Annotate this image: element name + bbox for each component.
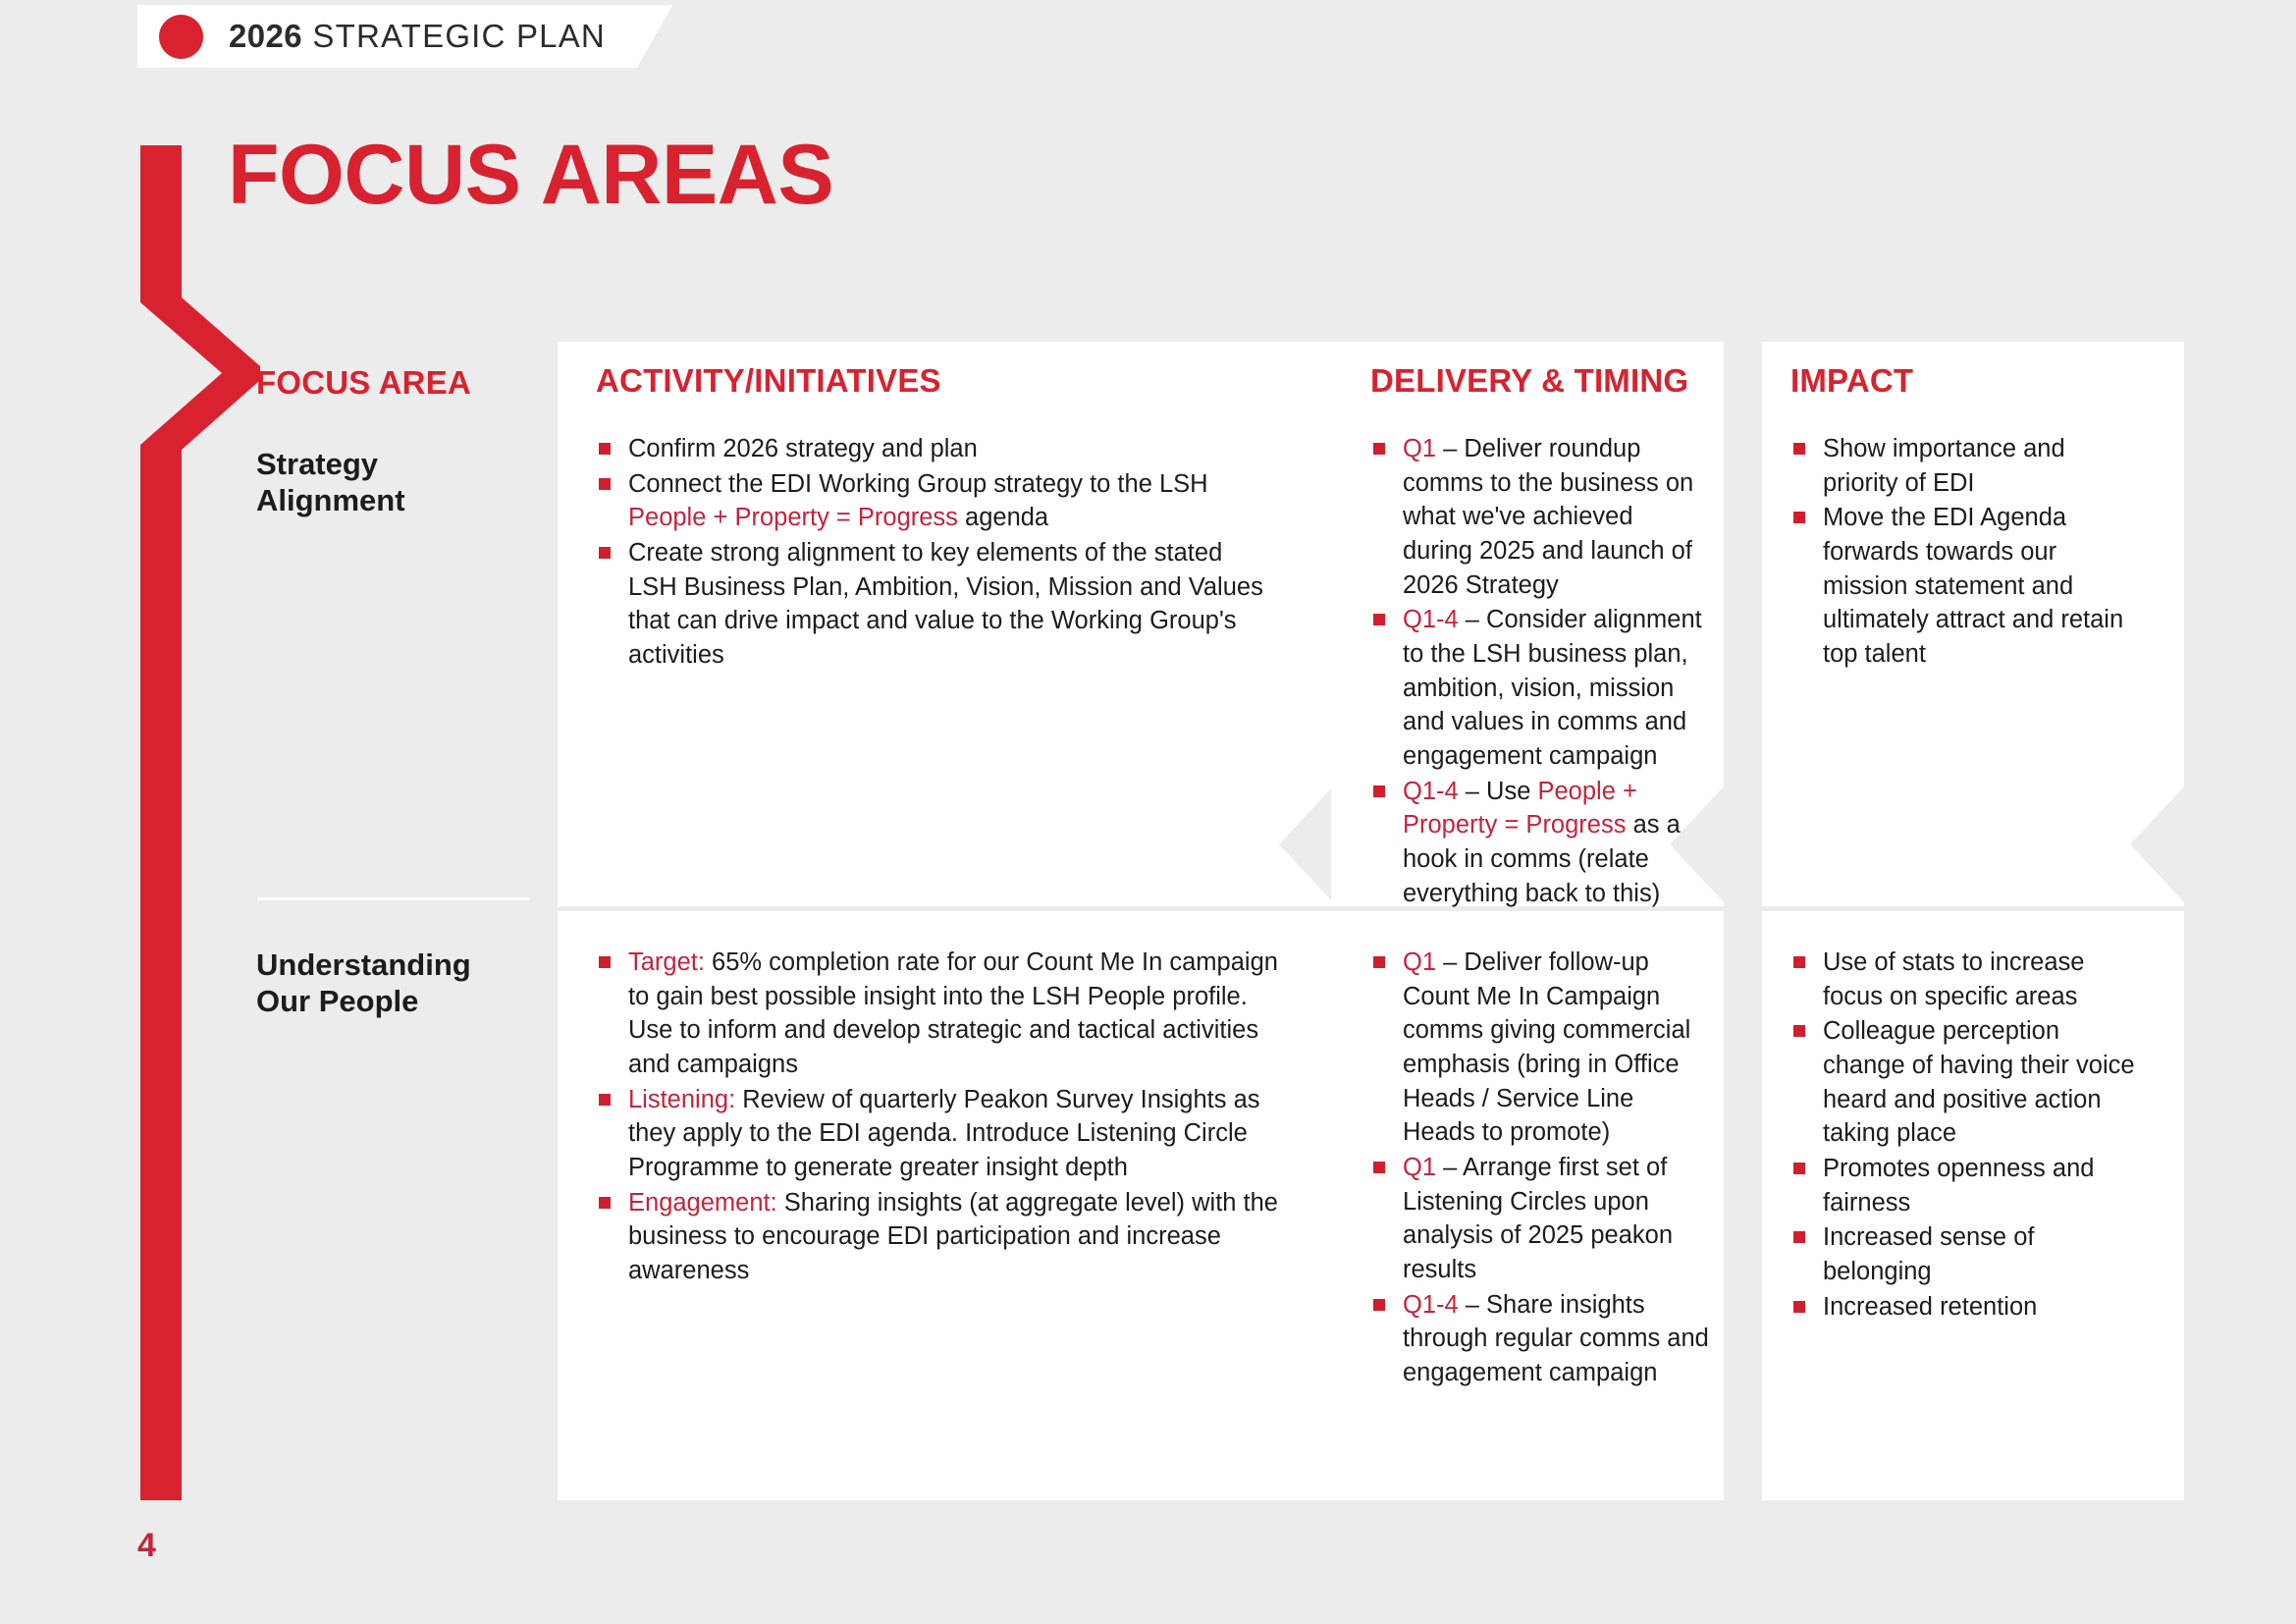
bullet-item: Move the EDI Agenda forwards towards our… (1790, 501, 2144, 671)
bullet-text: Show importance and priority of EDI (1823, 435, 2065, 497)
bullet-list: Q1 – Deliver roundup comms to the busine… (1370, 432, 1709, 910)
bullet-item: Show importance and priority of EDI (1790, 432, 2144, 500)
bullet-text: – Use (1466, 778, 1538, 805)
cell-activity-row1: Confirm 2026 strategy and planConnect th… (596, 432, 1273, 674)
bullet-item: Engagement: Sharing insights (at aggrega… (596, 1186, 1283, 1288)
bullet-text: Confirm 2026 strategy and plan (628, 435, 978, 462)
bullet-text: Use of stats to increase focus on specif… (1823, 948, 2084, 1010)
bullet-item: Use of stats to increase focus on specif… (1790, 946, 2144, 1013)
bullet-text: Increased sense of belonging (1823, 1223, 2034, 1285)
bullet-item: Connect the EDI Working Group strategy t… (596, 467, 1273, 535)
bullet-item: Colleague perception change of having th… (1790, 1014, 2144, 1151)
bullet-text: People + Property = Progress (628, 504, 958, 531)
bullet-item: Q1-4 – Consider alignment to the LSH bus… (1370, 603, 1709, 773)
cell-delivery-row2: Q1 – Deliver follow-up Count Me In Campa… (1370, 946, 1709, 1391)
bullet-list: Target: 65% completion rate for our Coun… (596, 946, 1283, 1288)
bullet-text: Connect the EDI Working Group strategy t… (628, 470, 1208, 498)
cell-activity-row2: Target: 65% completion rate for our Coun… (596, 946, 1283, 1289)
column-header-activity: ACTIVITY/INITIATIVES (596, 362, 941, 400)
bullet-text: Promotes openness and fairness (1823, 1155, 2094, 1217)
bullet-list: Confirm 2026 strategy and planConnect th… (596, 432, 1273, 673)
bullet-text: Listening: (628, 1086, 735, 1113)
bullet-text: Engagement: (628, 1189, 777, 1217)
bullet-text: – Arrange first set of Listening Circles… (1403, 1154, 1673, 1283)
bullet-list: Q1 – Deliver follow-up Count Me In Campa… (1370, 946, 1709, 1390)
bullet-text: – Deliver follow-up Count Me In Campaign… (1403, 948, 1690, 1146)
bullet-text: Q1 (1403, 435, 1443, 462)
bullet-text: Q1-4 (1403, 778, 1466, 805)
focus-area-divider (257, 897, 529, 900)
bullet-item: Q1 – Deliver roundup comms to the busine… (1370, 432, 1709, 602)
bullet-item: Target: 65% completion rate for our Coun… (596, 946, 1283, 1082)
bullet-item: Q1 – Deliver follow-up Count Me In Campa… (1370, 946, 1709, 1150)
bullet-item: Confirm 2026 strategy and plan (596, 432, 1273, 466)
column-header-focus-area: FOCUS AREA (256, 364, 471, 402)
bullet-item: Listening: Review of quarterly Peakon Su… (596, 1083, 1283, 1185)
cell-impact-row2: Use of stats to increase focus on specif… (1790, 946, 2144, 1325)
bullet-text: Increased retention (1823, 1293, 2037, 1321)
bullet-text: Q1-4 (1403, 1291, 1466, 1319)
bullet-item: Increased retention (1790, 1290, 2144, 1325)
bullet-text: Q1 (1403, 1154, 1443, 1181)
cell-impact-row1: Show importance and priority of EDIMove … (1790, 432, 2144, 673)
focus-areas-table: FOCUS AREA ACTIVITY/INITIATIVES DELIVERY… (0, 0, 2296, 1624)
focus-area-label-row2: Understanding Our People (256, 947, 471, 1019)
page-number: 4 (137, 1527, 156, 1565)
column-header-delivery: DELIVERY & TIMING (1370, 362, 1688, 400)
cell-delivery-row1: Q1 – Deliver roundup comms to the busine… (1370, 432, 1709, 911)
bullet-text: agenda (958, 504, 1048, 531)
column-header-impact: IMPACT (1790, 362, 1913, 400)
bullet-text: Q1 (1403, 948, 1443, 976)
bullet-text: – Deliver roundup comms to the business … (1403, 435, 1693, 599)
bullet-list: Show importance and priority of EDIMove … (1790, 432, 2144, 672)
focus-area-label-row1: Strategy Alignment (256, 447, 405, 518)
bullet-item: Promotes openness and fairness (1790, 1152, 2144, 1219)
bullet-item: Create strong alignment to key elements … (596, 536, 1273, 673)
bullet-item: Increased sense of belonging (1790, 1220, 2144, 1288)
bullet-text: Colleague perception change of having th… (1823, 1017, 2135, 1147)
bullet-text: Create strong alignment to key elements … (628, 539, 1263, 669)
bullet-item: Q1 – Arrange first set of Listening Circ… (1370, 1151, 1709, 1287)
bullet-text: 65% completion rate for our Count Me In … (628, 948, 1278, 1078)
bullet-list: Use of stats to increase focus on specif… (1790, 946, 2144, 1324)
bullet-text: Target: (628, 948, 705, 976)
bullet-text: Q1-4 (1403, 606, 1466, 633)
bullet-item: Q1-4 – Use People + Property = Progress … (1370, 775, 1709, 911)
bullet-item: Q1-4 – Share insights through regular co… (1370, 1288, 1709, 1390)
bullet-text: Move the EDI Agenda forwards towards our… (1823, 504, 2123, 668)
